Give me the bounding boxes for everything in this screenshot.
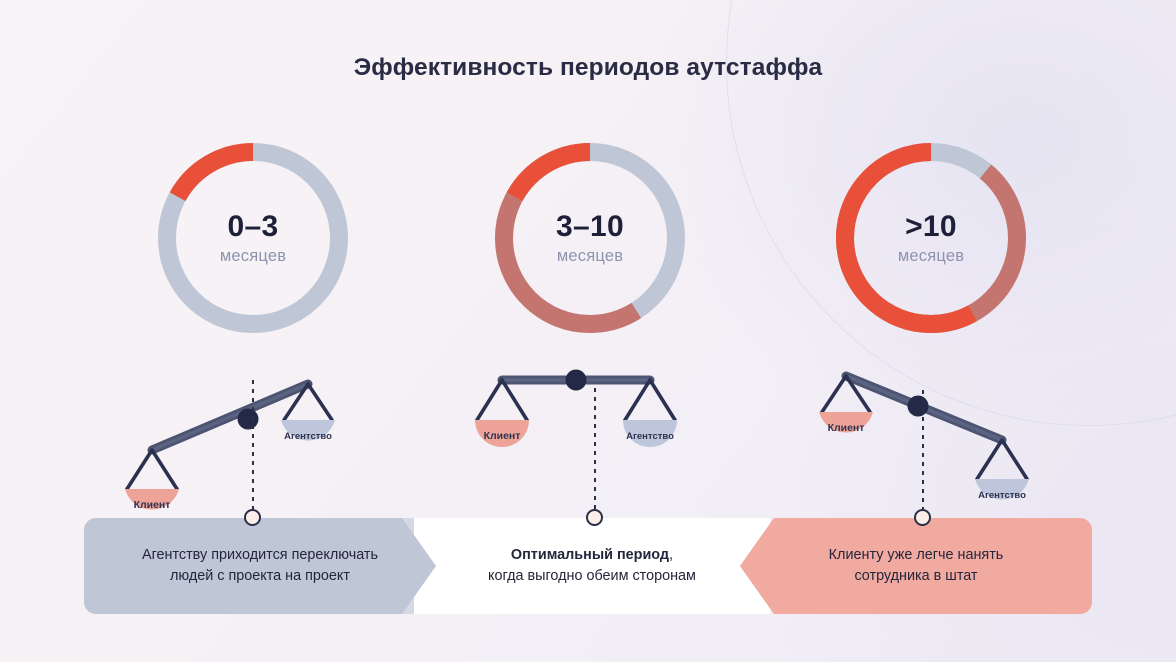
donut-value: 3–10 <box>556 212 624 242</box>
pan-label-agency: Агентство <box>284 431 332 442</box>
scale-fulcrum <box>908 396 929 417</box>
scale-fulcrum <box>238 409 259 430</box>
donut-chart-10-plus: >10 месяцев <box>833 140 1029 336</box>
banner-line-2: людей с проекта на проект <box>170 568 350 584</box>
banner-line-1-strong: Оптимальный период <box>511 547 669 563</box>
banner-line-1-tail: , <box>669 547 673 563</box>
donut-center-label-3-10: 3–10 месяцев <box>492 140 688 336</box>
dotted-line <box>922 390 924 520</box>
donut-value: 0–3 <box>228 212 279 242</box>
connector-knob-10-plus <box>914 509 931 526</box>
banner-line-1: Агентству приходится переключать <box>142 547 378 563</box>
donut-unit: месяцев <box>220 248 286 265</box>
banner-text: Оптимальный период, когда выгодно обеим … <box>488 545 696 587</box>
pan-label-client: Клиент <box>134 499 171 511</box>
period-banner-row: Агентству приходится переключать людей с… <box>84 518 1092 614</box>
donut-value: >10 <box>905 212 957 242</box>
banner-agency-switching[interactable]: Агентству приходится переключать людей с… <box>84 518 436 614</box>
scale-left-hanger <box>127 450 177 489</box>
banner-client-hiring[interactable]: Клиенту уже легче нанять сотрудника в шт… <box>740 518 1092 614</box>
banner-line-1: Клиенту уже легче нанять <box>829 547 1004 563</box>
dotted-line <box>594 388 596 520</box>
pan-label-client: Клиент <box>828 422 865 434</box>
donut-unit: месяцев <box>898 248 964 265</box>
connector-line-0-3 <box>252 380 254 520</box>
connector-line-3-10 <box>594 388 596 520</box>
donut-center-label-0-3: 0–3 месяцев <box>155 140 351 336</box>
connector-knob-0-3 <box>244 509 261 526</box>
pan-label-client: Клиент <box>484 430 521 442</box>
dotted-line <box>252 380 254 520</box>
scale-right-hanger <box>977 440 1027 479</box>
banner-line-2: когда выгодно обеим сторонам <box>488 568 696 584</box>
donut-center-label-10-plus: >10 месяцев <box>833 140 1029 336</box>
infographic-canvas: Эффективность периодов аутстаффа 0–3 мес… <box>0 0 1176 662</box>
scale-right-hanger <box>625 380 675 420</box>
pan-label-agency: Агентство <box>978 490 1026 501</box>
banner-line-2: сотрудника в штат <box>854 568 977 584</box>
balance-scale-10-plus: Клиент Агентство <box>806 358 1066 538</box>
donut-chart-0-3: 0–3 месяцев <box>155 140 351 336</box>
connector-line-10-plus <box>922 390 924 520</box>
donut-unit: месяцев <box>557 248 623 265</box>
donut-chart-3-10: 3–10 месяцев <box>492 140 688 336</box>
banner-text: Клиенту уже легче нанять сотрудника в шт… <box>829 545 1004 587</box>
banner-optimal-period[interactable]: Оптимальный период, когда выгодно обеим … <box>414 518 770 614</box>
pan-label-agency: Агентство <box>626 431 674 442</box>
scale-fulcrum <box>566 370 587 391</box>
connector-knob-3-10 <box>586 509 603 526</box>
banner-text: Агентству приходится переключать людей с… <box>142 545 378 587</box>
scale-left-hanger <box>477 380 527 420</box>
